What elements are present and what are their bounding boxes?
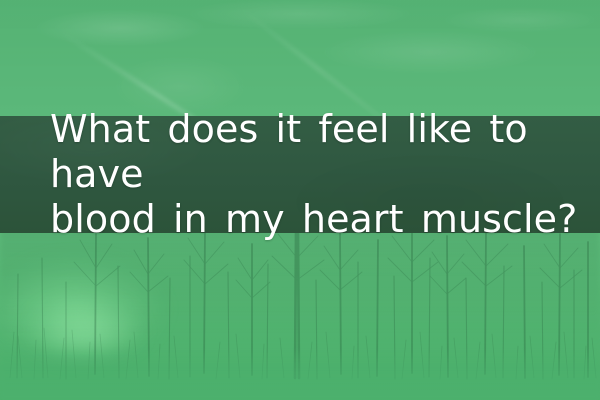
caption-text: What does it feel like to have blood in … <box>0 107 600 242</box>
image-canvas: What does it feel like to have blood in … <box>0 0 600 400</box>
forest-floor <box>0 348 600 400</box>
caption-band: What does it feel like to have blood in … <box>0 116 600 233</box>
